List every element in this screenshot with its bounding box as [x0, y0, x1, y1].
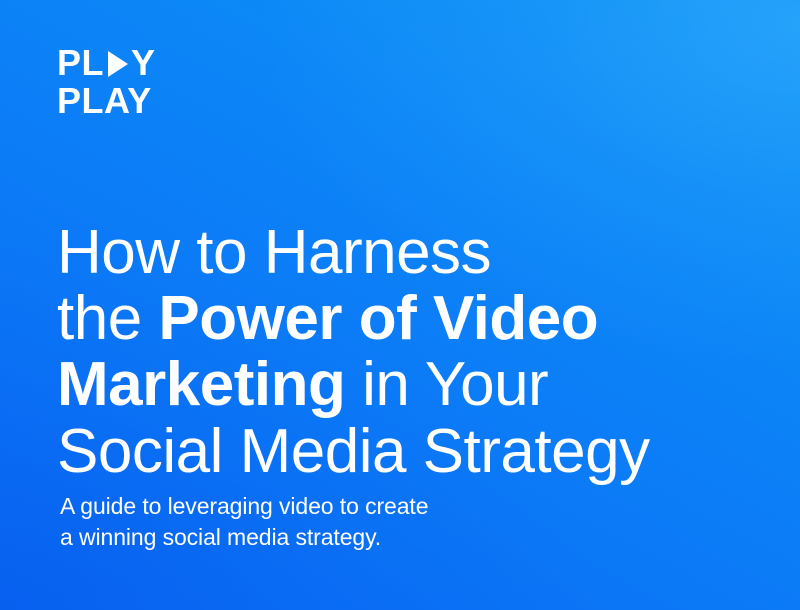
headline-line-1: How to Harness: [57, 220, 757, 286]
playplay-logo: PL Y PLAY: [57, 44, 156, 120]
subtitle-line-2: a winning social media strategy.: [60, 522, 680, 553]
headline-line-2-light: the: [57, 284, 158, 353]
subtitle-line-1: A guide to leveraging video to create: [60, 491, 680, 522]
page-title: How to Harness the Power of Video Market…: [57, 220, 757, 485]
headline-line-3-light: in Your: [345, 350, 548, 419]
slide-content: PL Y PLAY How to Harness the Power of Vi…: [0, 0, 800, 610]
headline-line-4: Social Media Strategy: [57, 419, 757, 485]
headline-line-1-text: How to Harness: [57, 218, 491, 287]
headline-line-3-bold: Marketing: [57, 350, 345, 419]
logo-line-1: PL Y: [57, 44, 156, 82]
headline-line-3: Marketing in Your: [57, 352, 757, 418]
page-subtitle: A guide to leveraging video to create a …: [60, 491, 680, 552]
logo-line-2: PLAY: [57, 82, 156, 120]
headline-line-2-bold: Power of Video: [158, 284, 598, 353]
play-triangle-icon: [108, 51, 128, 77]
ebook-cover-slide: PL Y PLAY How to Harness the Power of Vi…: [0, 0, 800, 610]
headline-line-4-text: Social Media Strategy: [57, 417, 650, 486]
logo-text-pl: PL: [57, 46, 104, 79]
logo-text-y: Y: [131, 46, 156, 79]
headline-line-2: the Power of Video: [57, 286, 757, 352]
logo-text-play: PLAY: [57, 84, 152, 117]
